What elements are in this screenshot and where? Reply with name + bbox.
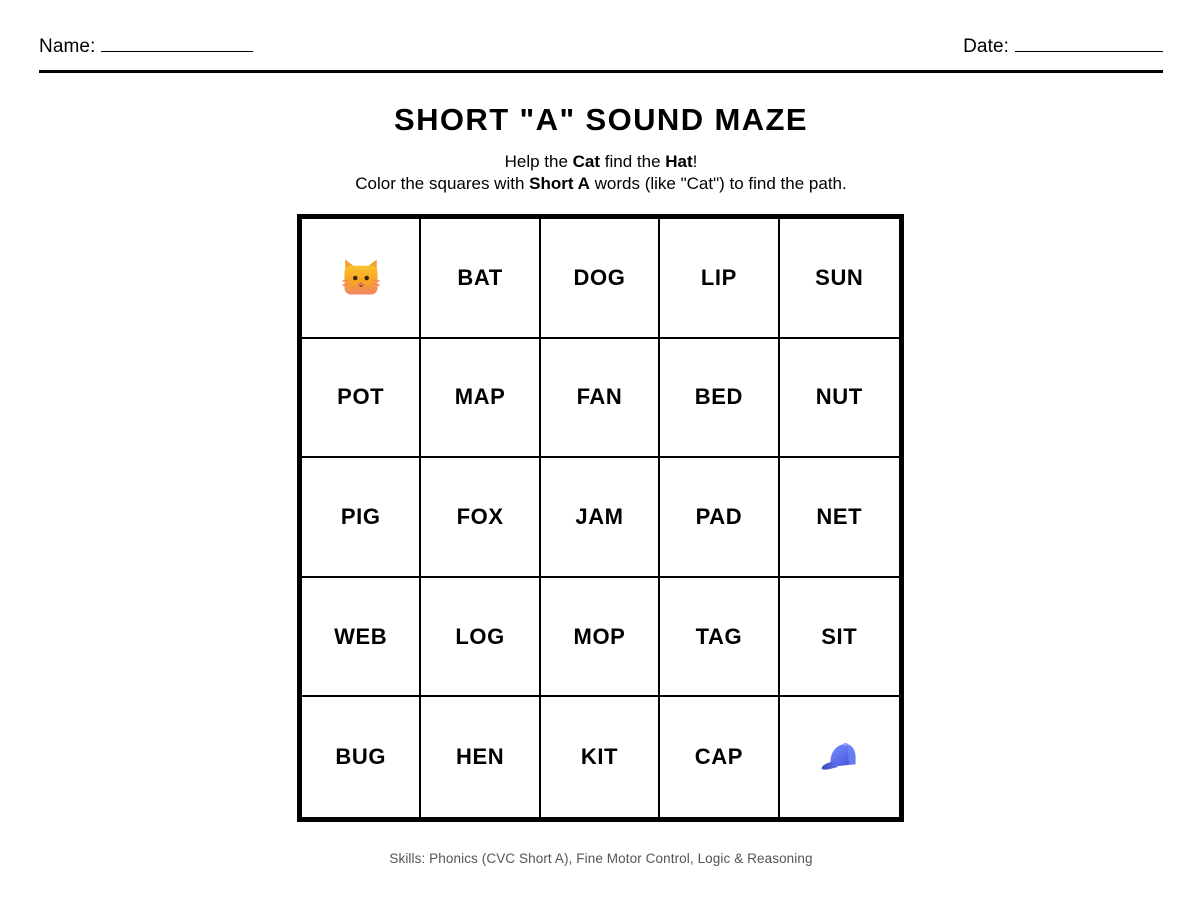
date-field-writing-line[interactable] (1015, 50, 1163, 52)
maze-cell-word: NET (816, 504, 862, 530)
maze-cell-r5c1[interactable]: BUG (302, 697, 421, 817)
maze-cell-r4c1[interactable]: WEB (302, 578, 421, 698)
page-title: SHORT "A" SOUND MAZE (0, 100, 1202, 140)
maze-cell-billed-cap-r5c5[interactable] (780, 697, 899, 817)
header-divider-rule (39, 70, 1163, 73)
billed-cap-emoji (816, 734, 862, 780)
maze-cell-r5c4[interactable]: CAP (660, 697, 779, 817)
maze-cell-r2c1[interactable]: POT (302, 339, 421, 459)
subtitle-line-1: Help the Cat find the Hat! (0, 151, 1202, 173)
subtitle-1-bold-cat: Cat (573, 152, 600, 171)
title-block: SHORT "A" SOUND MAZE Help the Cat find t… (0, 100, 1202, 195)
maze-cell-word: PAD (696, 504, 743, 530)
maze-cell-r5c3[interactable]: KIT (541, 697, 660, 817)
maze-cell-r1c3[interactable]: DOG (541, 219, 660, 339)
subtitle-1-bold-hat: Hat (665, 152, 692, 171)
maze-cell-r3c3[interactable]: JAM (541, 458, 660, 578)
maze-cell-word: SIT (821, 624, 857, 650)
maze-cell-r2c2[interactable]: MAP (421, 339, 540, 459)
maze-cell-word: HEN (456, 744, 504, 770)
maze-cell-word: BED (695, 384, 743, 410)
maze-cell-r3c5[interactable]: NET (780, 458, 899, 578)
maze-cell-word: JAM (575, 504, 623, 530)
maze-cell-word: NUT (816, 384, 863, 410)
maze-cell-r1c5[interactable]: SUN (780, 219, 899, 339)
maze-cell-word: KIT (581, 744, 618, 770)
maze-cell-word: TAG (696, 624, 743, 650)
subtitle-2-text-b: words (like "Cat") to find the path. (590, 174, 847, 193)
name-field-writing-line[interactable] (101, 50, 253, 52)
maze-cell-word: PIG (341, 504, 381, 530)
maze-cell-word: DOG (574, 265, 626, 291)
header-fields-row: Name: Date: (39, 36, 1163, 58)
maze-cell-r4c4[interactable]: TAG (660, 578, 779, 698)
subtitle-2-bold-short-a: Short A (529, 174, 590, 193)
subtitle-1-text-a: Help the (505, 152, 573, 171)
maze-cell-word: CAP (695, 744, 743, 770)
maze-cell-r3c1[interactable]: PIG (302, 458, 421, 578)
date-field[interactable]: Date: (963, 36, 1163, 58)
maze-cell-r2c3[interactable]: FAN (541, 339, 660, 459)
maze-cell-r2c5[interactable]: NUT (780, 339, 899, 459)
name-field[interactable]: Name: (39, 36, 253, 58)
maze-cell-word: BAT (457, 265, 502, 291)
subtitle-1-text-b: find the (600, 152, 665, 171)
maze-cell-r4c3[interactable]: MOP (541, 578, 660, 698)
skills-footer: Skills: Phonics (CVC Short A), Fine Moto… (0, 851, 1202, 866)
maze-cell-word: WEB (334, 624, 387, 650)
maze-cell-word: LIP (701, 265, 737, 291)
maze-cell-word: FOX (457, 504, 504, 530)
maze-cell-word: LOG (455, 624, 504, 650)
maze-grid: BATDOGLIPSUNPOTMAPFANBEDNUTPIGFOXJAMPADN… (302, 219, 899, 817)
date-field-label: Date: (963, 36, 1009, 58)
maze-cell-grinning-cat-face-r1c1[interactable] (302, 219, 421, 339)
maze-cell-r4c5[interactable]: SIT (780, 578, 899, 698)
maze-cell-word: FAN (577, 384, 623, 410)
maze-cell-r1c4[interactable]: LIP (660, 219, 779, 339)
maze-cell-r4c2[interactable]: LOG (421, 578, 540, 698)
maze-cell-word: POT (337, 384, 384, 410)
maze-cell-r5c2[interactable]: HEN (421, 697, 540, 817)
maze-cell-r1c2[interactable]: BAT (421, 219, 540, 339)
maze-cell-word: MOP (574, 624, 626, 650)
maze-cell-r3c2[interactable]: FOX (421, 458, 540, 578)
maze-cell-word: BUG (335, 744, 386, 770)
subtitle-1-text-c: ! (693, 152, 698, 171)
name-field-label: Name: (39, 36, 95, 58)
maze-cell-r3c4[interactable]: PAD (660, 458, 779, 578)
maze-grid-container: BATDOGLIPSUNPOTMAPFANBEDNUTPIGFOXJAMPADN… (297, 214, 904, 822)
grinning-cat-face-emoji (338, 255, 384, 301)
maze-cell-word: SUN (815, 265, 863, 291)
subtitle-line-2: Color the squares with Short A words (li… (0, 173, 1202, 195)
subtitle-2-text-a: Color the squares with (355, 174, 529, 193)
maze-cell-r2c4[interactable]: BED (660, 339, 779, 459)
maze-cell-word: MAP (455, 384, 506, 410)
worksheet-header: Name: Date: (39, 0, 1163, 74)
